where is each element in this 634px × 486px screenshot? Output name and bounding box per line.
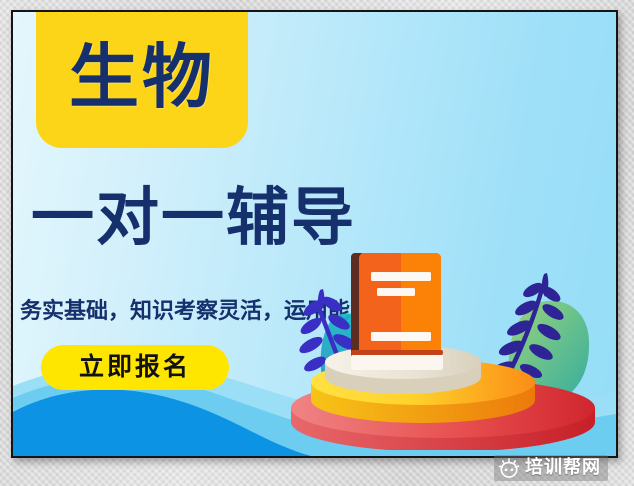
enroll-now-button-label: 立即报名 [79, 355, 191, 380]
podium-base-side [291, 408, 595, 450]
wave-dark-shape [13, 390, 311, 456]
leaf-teal-left [321, 313, 384, 398]
podium-base-top [291, 378, 595, 438]
enroll-now-button[interactable]: 立即报名 [41, 345, 229, 390]
page-canvas: 生物 一对一辅导 务实基础，知识考察灵活，运用能力提升 立即报名 [0, 0, 634, 486]
podium-top-side [325, 362, 481, 394]
watermark-text: 培训帮网 [525, 459, 601, 477]
book-title-bar-3 [371, 332, 431, 341]
podium-middle-side [311, 382, 535, 423]
banner-subtitle: 务实基础，知识考察灵活，运用能力提升 [20, 300, 470, 324]
book-title-bar-1 [371, 272, 431, 281]
podium-middle-top [311, 359, 535, 405]
sun-face-icon [498, 458, 520, 478]
podium-top-surface [325, 345, 481, 379]
book-pages [351, 354, 443, 370]
wave-dark-shape-2 [13, 414, 273, 456]
leaf-green-right [509, 301, 589, 404]
fern-right [486, 273, 566, 398]
subject-badge-label: 生物 [69, 42, 215, 118]
book-pages-shadow [351, 350, 443, 355]
site-watermark: 培训帮网 [494, 455, 608, 481]
book-title-bar-2 [377, 288, 415, 296]
banner-headline: 一对一辅导 [31, 186, 501, 249]
book-podium-illustration [283, 250, 618, 450]
subject-badge: 生物 [36, 12, 248, 148]
course-banner: 生物 一对一辅导 务实基础，知识考察灵活，运用能力提升 立即报名 [11, 10, 618, 458]
